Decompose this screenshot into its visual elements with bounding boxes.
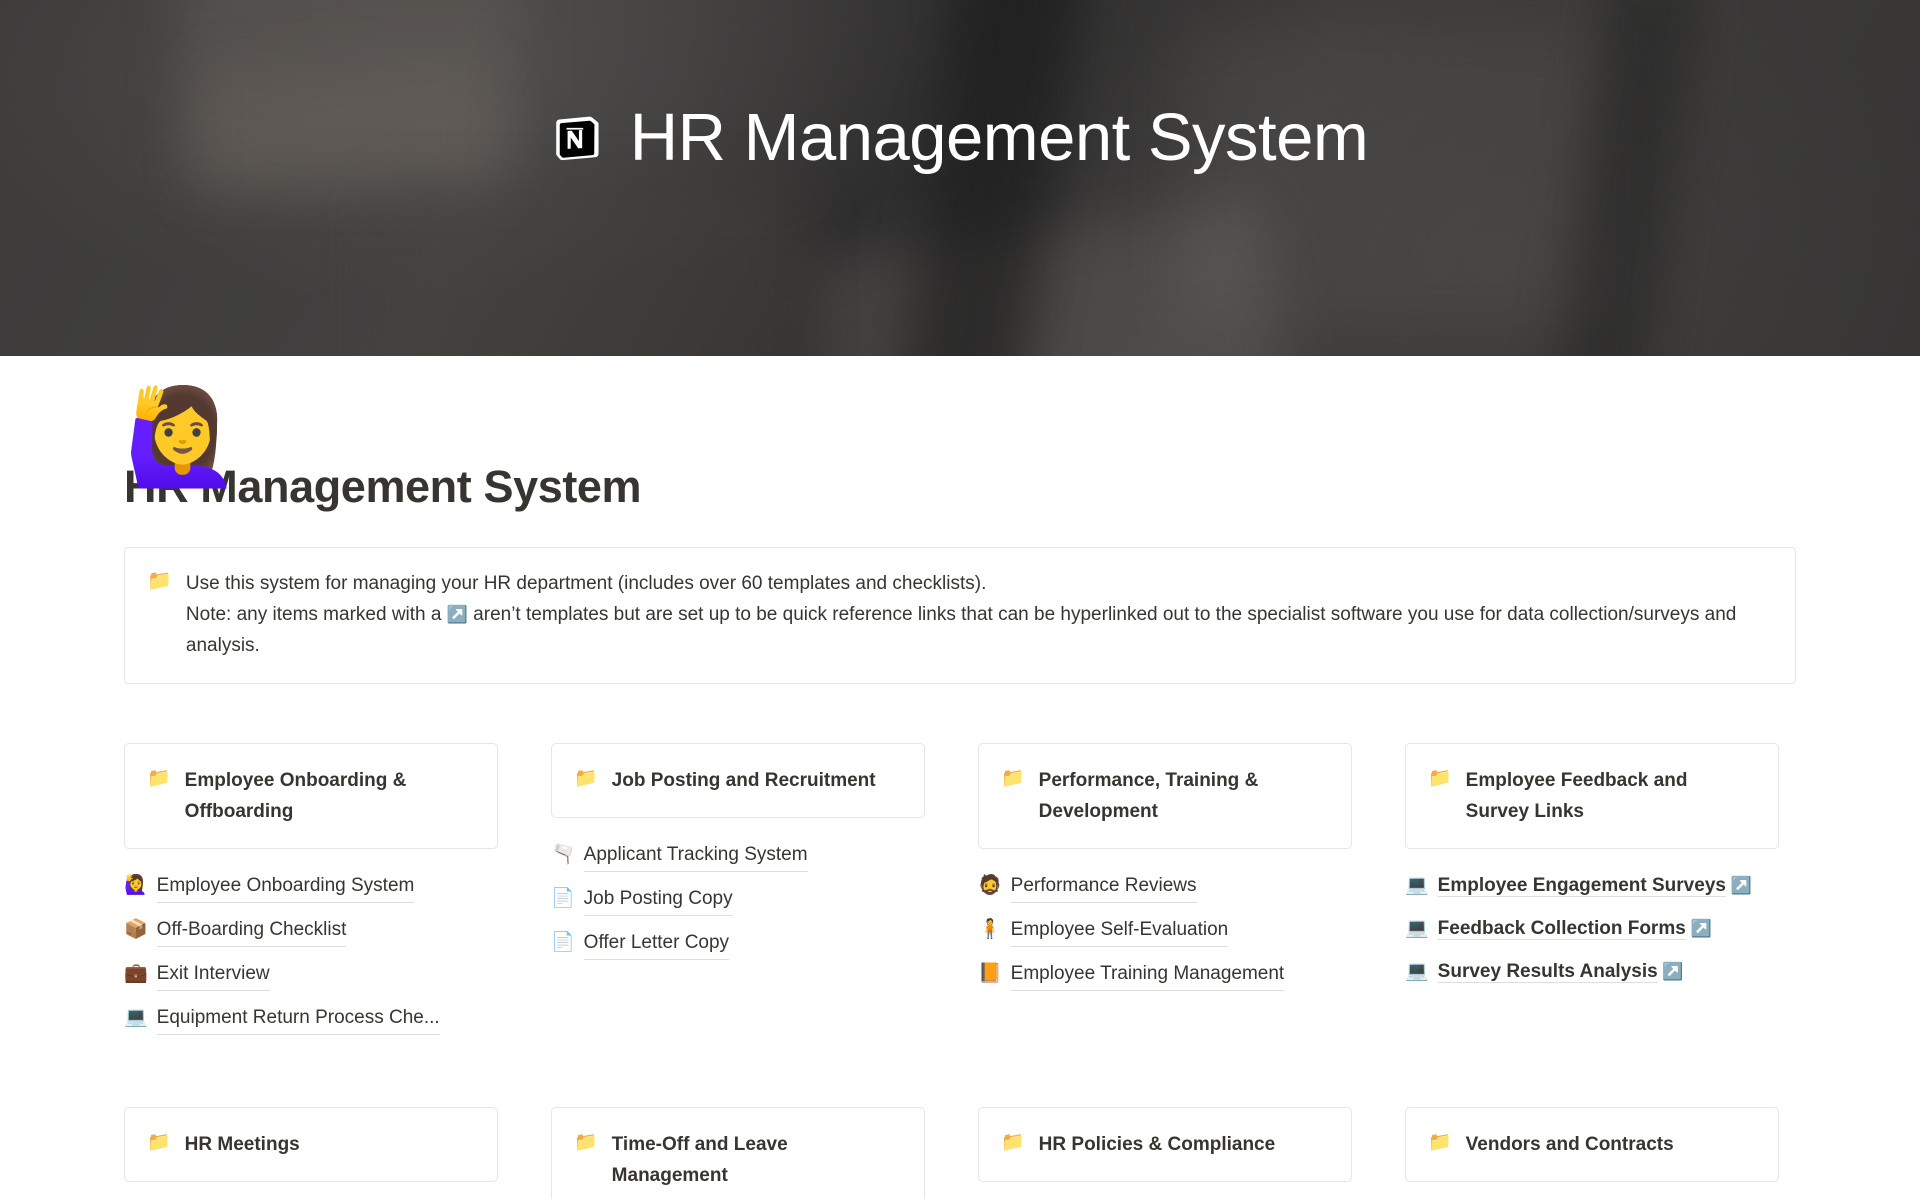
section-link-list: 🙋‍♀️Employee Onboarding System📦Off-Board… xyxy=(124,869,498,1045)
section-card-title: HR Policies & Compliance xyxy=(1039,1129,1276,1160)
card-grid-row-2: 📁HR Meetings🌇Meeting Agenda & Notes📁Time… xyxy=(124,1107,1796,1199)
page-link-item[interactable]: 📦Off-Boarding Checklist xyxy=(124,913,498,947)
page-link-label-text[interactable]: Survey Results Analysis xyxy=(1438,961,1658,983)
page-link-item[interactable]: 🙋‍♀️Employee Onboarding System xyxy=(124,869,498,903)
page-link-label[interactable]: Employee Training Management xyxy=(1011,957,1285,991)
section-card-title: Employee Feedback and Survey Links xyxy=(1466,765,1756,827)
callout-text: Use this system for managing your HR dep… xyxy=(186,568,1773,661)
section-card-title: Time-Off and Leave Management xyxy=(612,1129,902,1191)
notion-logo-icon xyxy=(552,112,604,164)
page-link-label[interactable]: Off-Boarding Checklist xyxy=(157,913,347,947)
page-facing-up-emoji: 📄 xyxy=(551,882,575,915)
page-link-item[interactable]: 📄Job Posting Copy xyxy=(551,882,925,916)
standing-person-emoji: 🧍 xyxy=(978,913,1002,946)
section-card-title: Job Posting and Recruitment xyxy=(612,765,876,796)
section-link-list: 🫗Applicant Tracking System📄Job Posting C… xyxy=(551,838,925,970)
page-cover-banner: HR Management System xyxy=(0,0,1920,356)
page-link-label[interactable]: Equipment Return Process Che... xyxy=(157,1001,440,1035)
page-link-label-text[interactable]: Feedback Collection Forms xyxy=(1438,918,1686,940)
page-icon-emoji[interactable]: 🙋‍♀️ xyxy=(124,390,241,484)
page-link-label[interactable]: Employee Self-Evaluation xyxy=(1011,913,1229,947)
external-link-arrow-icon: ↗️ xyxy=(447,605,468,624)
file-folder-icon: 📁 xyxy=(1428,765,1452,792)
page-link-item[interactable]: 🧔Performance Reviews xyxy=(978,869,1352,903)
page-link-item[interactable]: 💻Employee Engagement Surveys ↗️ xyxy=(1405,869,1779,902)
card-column: 📁Employee Onboarding & Offboarding🙋‍♀️Em… xyxy=(124,743,498,1045)
section-card-title: Performance, Training & Development xyxy=(1039,765,1329,827)
card-column: 📁Performance, Training & Development🧔Per… xyxy=(978,743,1352,1045)
section-link-list: 🧔Performance Reviews🧍Employee Self-Evalu… xyxy=(978,869,1352,1001)
page-link-label[interactable]: Employee Engagement Surveys ↗️ xyxy=(1438,869,1752,902)
external-link-arrow-icon: ↗️ xyxy=(1658,962,1684,981)
page-link-item[interactable]: 💼Exit Interview xyxy=(124,957,498,991)
card-column: 📁Vendors and Contracts🕯️Vendor Managemen… xyxy=(1405,1107,1779,1199)
section-card[interactable]: 📁Performance, Training & Development xyxy=(978,743,1352,849)
page-content: HR Management System 📁 Use this system f… xyxy=(0,460,1920,1199)
file-folder-icon: 📁 xyxy=(1428,1129,1452,1156)
file-folder-icon: 📁 xyxy=(147,765,171,792)
page-link-item[interactable]: 📄Offer Letter Copy xyxy=(551,926,925,960)
page-link-item[interactable]: 💻Survey Results Analysis ↗️ xyxy=(1405,955,1779,988)
page-link-label[interactable]: Exit Interview xyxy=(157,957,270,991)
section-card-title: Employee Onboarding & Offboarding xyxy=(185,765,475,827)
laptop-emoji: 💻 xyxy=(124,1001,148,1034)
page-link-item[interactable]: 💻Equipment Return Process Che... xyxy=(124,1001,498,1035)
page-link-label[interactable]: Offer Letter Copy xyxy=(584,926,729,960)
page-link-label[interactable]: Feedback Collection Forms ↗️ xyxy=(1438,912,1712,945)
section-card-title: Vendors and Contracts xyxy=(1466,1129,1674,1160)
page-link-item[interactable]: 🧍Employee Self-Evaluation xyxy=(978,913,1352,947)
page-link-label[interactable]: Employee Onboarding System xyxy=(157,869,415,903)
page-link-label[interactable]: Applicant Tracking System xyxy=(584,838,808,872)
section-card[interactable]: 📁Job Posting and Recruitment xyxy=(551,743,925,818)
woman-raising-hand-emoji: 🙋‍♀️ xyxy=(124,869,148,902)
cover-blur-shape xyxy=(380,190,800,356)
orange-book-emoji: 📙 xyxy=(978,957,1002,990)
page-link-label[interactable]: Survey Results Analysis ↗️ xyxy=(1438,955,1684,988)
file-folder-icon: 📁 xyxy=(574,765,598,792)
page-body: 🙋‍♀️ HR Management System 📁 Use this sys… xyxy=(0,460,1920,1199)
file-folder-icon: 📁 xyxy=(147,568,172,594)
page-facing-up-emoji: 📄 xyxy=(551,926,575,959)
person-beard-emoji: 🧔 xyxy=(978,869,1002,902)
section-card[interactable]: 📁Employee Feedback and Survey Links xyxy=(1405,743,1779,849)
external-link-arrow-icon: ↗️ xyxy=(1726,876,1752,895)
briefcase-emoji: 💼 xyxy=(124,957,148,990)
file-folder-icon: 📁 xyxy=(147,1129,171,1156)
section-card[interactable]: 📁Employee Onboarding & Offboarding xyxy=(124,743,498,849)
laptop-emoji: 💻 xyxy=(1405,869,1429,902)
section-card[interactable]: 📁Time-Off and Leave Management xyxy=(551,1107,925,1199)
card-column: 📁HR Policies & Compliance📚Policies and P… xyxy=(978,1107,1352,1199)
file-folder-icon: 📁 xyxy=(574,1129,598,1156)
card-column: 📁Time-Off and Leave Management xyxy=(551,1107,925,1199)
page-link-item[interactable]: 📙Employee Training Management xyxy=(978,957,1352,991)
cover-title-group: HR Management System xyxy=(0,104,1920,171)
callout-line-2-prefix: Note: any items marked with a xyxy=(186,604,447,625)
section-card[interactable]: 📁HR Policies & Compliance xyxy=(978,1107,1352,1182)
card-column: 📁HR Meetings🌇Meeting Agenda & Notes xyxy=(124,1107,498,1199)
cover-blur-shape xyxy=(806,199,1295,356)
section-link-list: 💻Employee Engagement Surveys ↗️💻Feedback… xyxy=(1405,869,1779,998)
card-column: 📁Job Posting and Recruitment🫗Applicant T… xyxy=(551,743,925,1045)
page-link-label-text[interactable]: Employee Engagement Surveys xyxy=(1438,875,1726,897)
intro-callout: 📁 Use this system for managing your HR d… xyxy=(124,547,1796,684)
page-link-label[interactable]: Job Posting Copy xyxy=(584,882,733,916)
package-emoji: 📦 xyxy=(124,913,148,946)
laptop-emoji: 💻 xyxy=(1405,955,1429,988)
teal-gem-emoji: 🫗 xyxy=(551,838,575,871)
laptop-emoji: 💻 xyxy=(1405,912,1429,945)
card-column: 📁Employee Feedback and Survey Links💻Empl… xyxy=(1405,743,1779,1045)
file-folder-icon: 📁 xyxy=(1001,765,1025,792)
page-title: HR Management System xyxy=(124,460,1796,514)
section-card[interactable]: 📁Vendors and Contracts xyxy=(1405,1107,1779,1182)
external-link-arrow-icon: ↗️ xyxy=(1686,919,1712,938)
page-link-label[interactable]: Performance Reviews xyxy=(1011,869,1197,903)
section-card[interactable]: 📁HR Meetings xyxy=(124,1107,498,1182)
card-grid-row-1: 📁Employee Onboarding & Offboarding🙋‍♀️Em… xyxy=(124,743,1796,1045)
file-folder-icon: 📁 xyxy=(1001,1129,1025,1156)
page-link-item[interactable]: 🫗Applicant Tracking System xyxy=(551,838,925,872)
cover-title: HR Management System xyxy=(630,104,1368,171)
callout-line-1: Use this system for managing your HR dep… xyxy=(186,573,986,594)
section-card-title: HR Meetings xyxy=(185,1129,300,1160)
page-link-item[interactable]: 💻Feedback Collection Forms ↗️ xyxy=(1405,912,1779,945)
